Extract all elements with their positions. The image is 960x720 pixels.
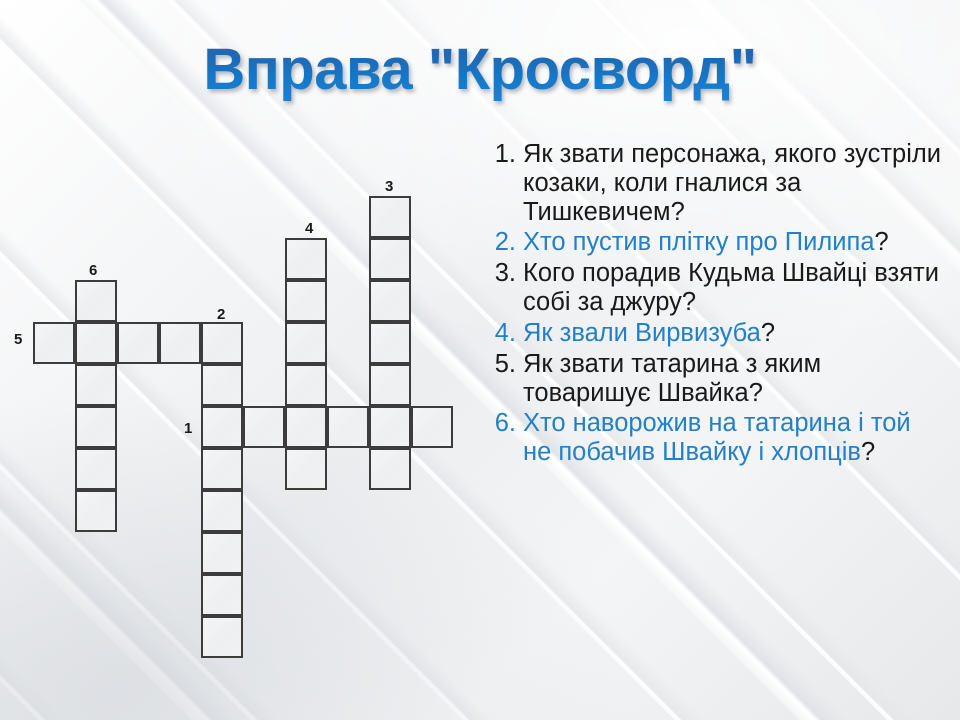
crossword-clue-number: 1 <box>184 421 192 436</box>
question-item: 6.Хто наворожив на татарина і той не поб… <box>483 409 945 467</box>
question-item: 3.Кого порадив Кудьма Швайці взяти собі … <box>483 259 945 317</box>
question-number: 4. <box>483 319 523 348</box>
crossword-cell[interactable] <box>369 448 411 490</box>
question-number: 5. <box>483 350 523 379</box>
crossword-cell[interactable] <box>285 280 327 322</box>
crossword-cell[interactable] <box>201 574 243 616</box>
question-item: 4.Як звали Вирвизуба? <box>483 319 945 348</box>
crossword-cell[interactable] <box>201 322 243 364</box>
crossword-cell[interactable] <box>285 364 327 406</box>
crossword-cell[interactable] <box>285 322 327 364</box>
crossword-cell[interactable] <box>201 406 243 448</box>
crossword-cell[interactable] <box>75 490 117 532</box>
crossword-cell[interactable] <box>75 280 117 322</box>
question-terminator: ? <box>875 228 889 256</box>
question-number: 3. <box>483 259 523 288</box>
crossword-cell[interactable] <box>75 448 117 490</box>
crossword-cell[interactable] <box>411 406 453 448</box>
crossword-cell[interactable] <box>327 406 369 448</box>
crossword-clue-number: 4 <box>305 221 313 236</box>
crossword-grid[interactable]: 562431 <box>0 0 480 720</box>
crossword-cell[interactable] <box>75 322 117 364</box>
crossword-cell[interactable] <box>369 196 411 238</box>
crossword-cell[interactable] <box>285 406 327 448</box>
question-text: Як звали Вирвизуба? <box>523 319 945 348</box>
slide-canvas: Вправа "Кросворд" 562431 1.Як звати перс… <box>0 0 960 720</box>
questions-list: 1.Як звати персонажа, якого зустріли коз… <box>483 140 945 469</box>
crossword-cell[interactable] <box>201 532 243 574</box>
crossword-cell[interactable] <box>369 364 411 406</box>
crossword-cell[interactable] <box>285 448 327 490</box>
question-text: Як звати татарина з яким товаришує Швайк… <box>523 350 945 408</box>
crossword-cell[interactable] <box>369 238 411 280</box>
crossword-cell[interactable] <box>369 280 411 322</box>
crossword-clue-number: 5 <box>14 332 22 347</box>
crossword-cell[interactable] <box>285 238 327 280</box>
crossword-cell[interactable] <box>159 322 201 364</box>
crossword-clue-number: 3 <box>385 179 393 194</box>
question-item: 2.Хто пустив плітку про Пилипа? <box>483 228 945 257</box>
question-terminator: ? <box>761 319 775 347</box>
crossword-clue-number: 6 <box>89 263 97 278</box>
question-number: 1. <box>483 140 523 169</box>
crossword-cell[interactable] <box>201 364 243 406</box>
question-terminator: ? <box>861 438 875 466</box>
question-text: Хто пустив плітку про Пилипа? <box>523 228 945 257</box>
crossword-cell[interactable] <box>75 406 117 448</box>
question-text: Як звати персонажа, якого зустріли козак… <box>523 140 945 226</box>
crossword-cell[interactable] <box>201 490 243 532</box>
crossword-cell[interactable] <box>369 322 411 364</box>
question-text: Хто наворожив на татарина і той не побач… <box>523 409 945 467</box>
question-number: 2. <box>483 228 523 257</box>
crossword-cell[interactable] <box>201 448 243 490</box>
question-item: 1.Як звати персонажа, якого зустріли коз… <box>483 140 945 226</box>
question-text: Кого порадив Кудьма Швайці взяти собі за… <box>523 259 945 317</box>
crossword-cell[interactable] <box>369 406 411 448</box>
question-number: 6. <box>483 409 523 438</box>
crossword-cell[interactable] <box>243 406 285 448</box>
question-item: 5.Як звати татарина з яким товаришує Шва… <box>483 350 945 408</box>
crossword-cell[interactable] <box>75 364 117 406</box>
crossword-cell[interactable] <box>117 322 159 364</box>
crossword-cell[interactable] <box>33 322 75 364</box>
crossword-clue-number: 2 <box>217 307 225 322</box>
crossword-cell[interactable] <box>201 616 243 658</box>
